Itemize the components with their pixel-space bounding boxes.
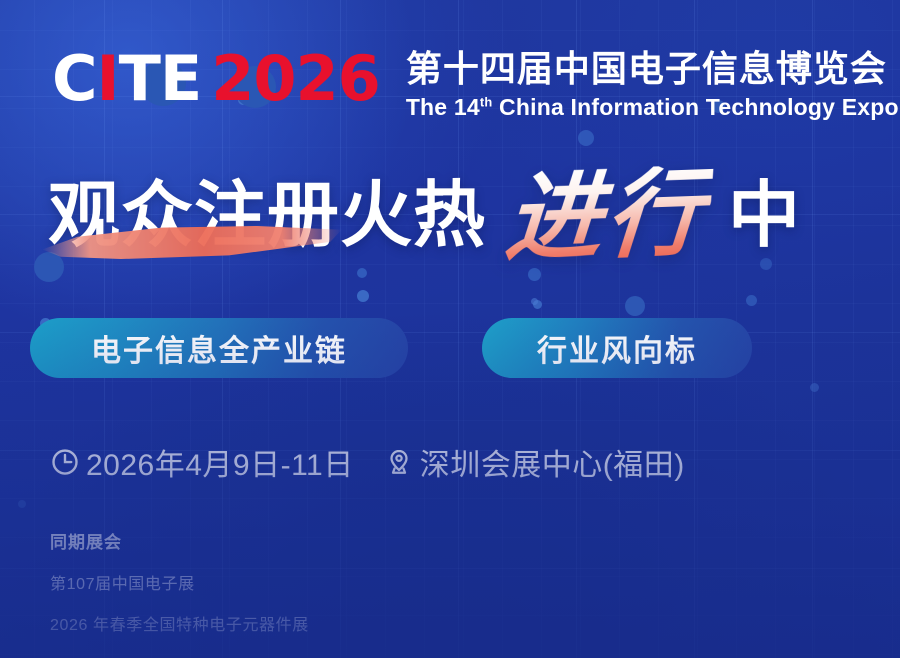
decorative-dot bbox=[625, 296, 645, 316]
tagline-pill-industry-bellwether: 行业风向标 bbox=[482, 318, 752, 378]
decorative-dot bbox=[18, 500, 26, 508]
decorative-dot bbox=[357, 268, 367, 278]
concurrent-exhibitions-heading: 同期展会 bbox=[50, 528, 309, 553]
cite-letter-c: C bbox=[52, 42, 97, 115]
event-date-item: 2026年4月9日-11日 bbox=[50, 440, 354, 484]
cite-letters-te: TE bbox=[119, 42, 202, 115]
decorative-dot bbox=[531, 298, 538, 305]
location-pin-icon bbox=[384, 447, 414, 477]
tagline-pill-supply-chain: 电子信息全产业链 bbox=[30, 318, 408, 378]
event-title-en-pre: The 14 bbox=[406, 94, 480, 120]
decorative-dot bbox=[578, 130, 594, 146]
event-venue: 深圳会展中心(福田) bbox=[420, 440, 685, 484]
event-meta-row: 2026年4月9日-11日 深圳会展中心(福田) bbox=[50, 440, 685, 484]
event-date: 2026年4月9日-11日 bbox=[86, 440, 354, 484]
decorative-dot bbox=[810, 383, 819, 392]
event-venue-item: 深圳会展中心(福田) bbox=[384, 440, 685, 484]
decorative-dot bbox=[357, 290, 369, 302]
clock-icon bbox=[50, 447, 80, 477]
decorative-dot bbox=[533, 300, 542, 309]
event-titles: 第十四届中国电子信息博览会 The 14th China Information… bbox=[406, 48, 899, 121]
decorative-dot bbox=[746, 295, 757, 306]
cite-logomark: CITE 2026 bbox=[52, 48, 380, 110]
cite-wordmark: CITE bbox=[52, 48, 201, 110]
headline-lead: 观众注册火热 bbox=[48, 180, 486, 252]
headline-brush-word: 进行 bbox=[498, 164, 713, 267]
poster-banner: CITE 2026 第十四届中国电子信息博览会 The 14th China I… bbox=[0, 0, 900, 658]
logo-year: 2026 bbox=[211, 48, 380, 110]
event-title-cn: 第十四届中国电子信息博览会 bbox=[406, 50, 899, 89]
concurrent-exhibitions: 同期展会 第107届中国电子展 2026 年春季全国特种电子元器件展 bbox=[50, 528, 309, 635]
event-logo-row: CITE 2026 第十四届中国电子信息博览会 The 14th China I… bbox=[52, 48, 899, 121]
headline-tail: 中 bbox=[728, 180, 800, 252]
tagline-pills: 电子信息全产业链 行业风向标 bbox=[30, 318, 752, 378]
ordinal-suffix: th bbox=[480, 94, 493, 109]
concurrent-exhibition-item: 2026 年春季全国特种电子元器件展 bbox=[50, 611, 309, 635]
cite-letter-i: I bbox=[97, 42, 119, 115]
event-title-en: The 14th China Information Technology Ex… bbox=[406, 94, 899, 121]
event-title-en-post: China Information Technology Expo bbox=[492, 94, 898, 120]
concurrent-exhibition-item: 第107届中国电子展 bbox=[50, 570, 309, 594]
headline: 观众注册火热 进行 中 bbox=[48, 168, 800, 264]
